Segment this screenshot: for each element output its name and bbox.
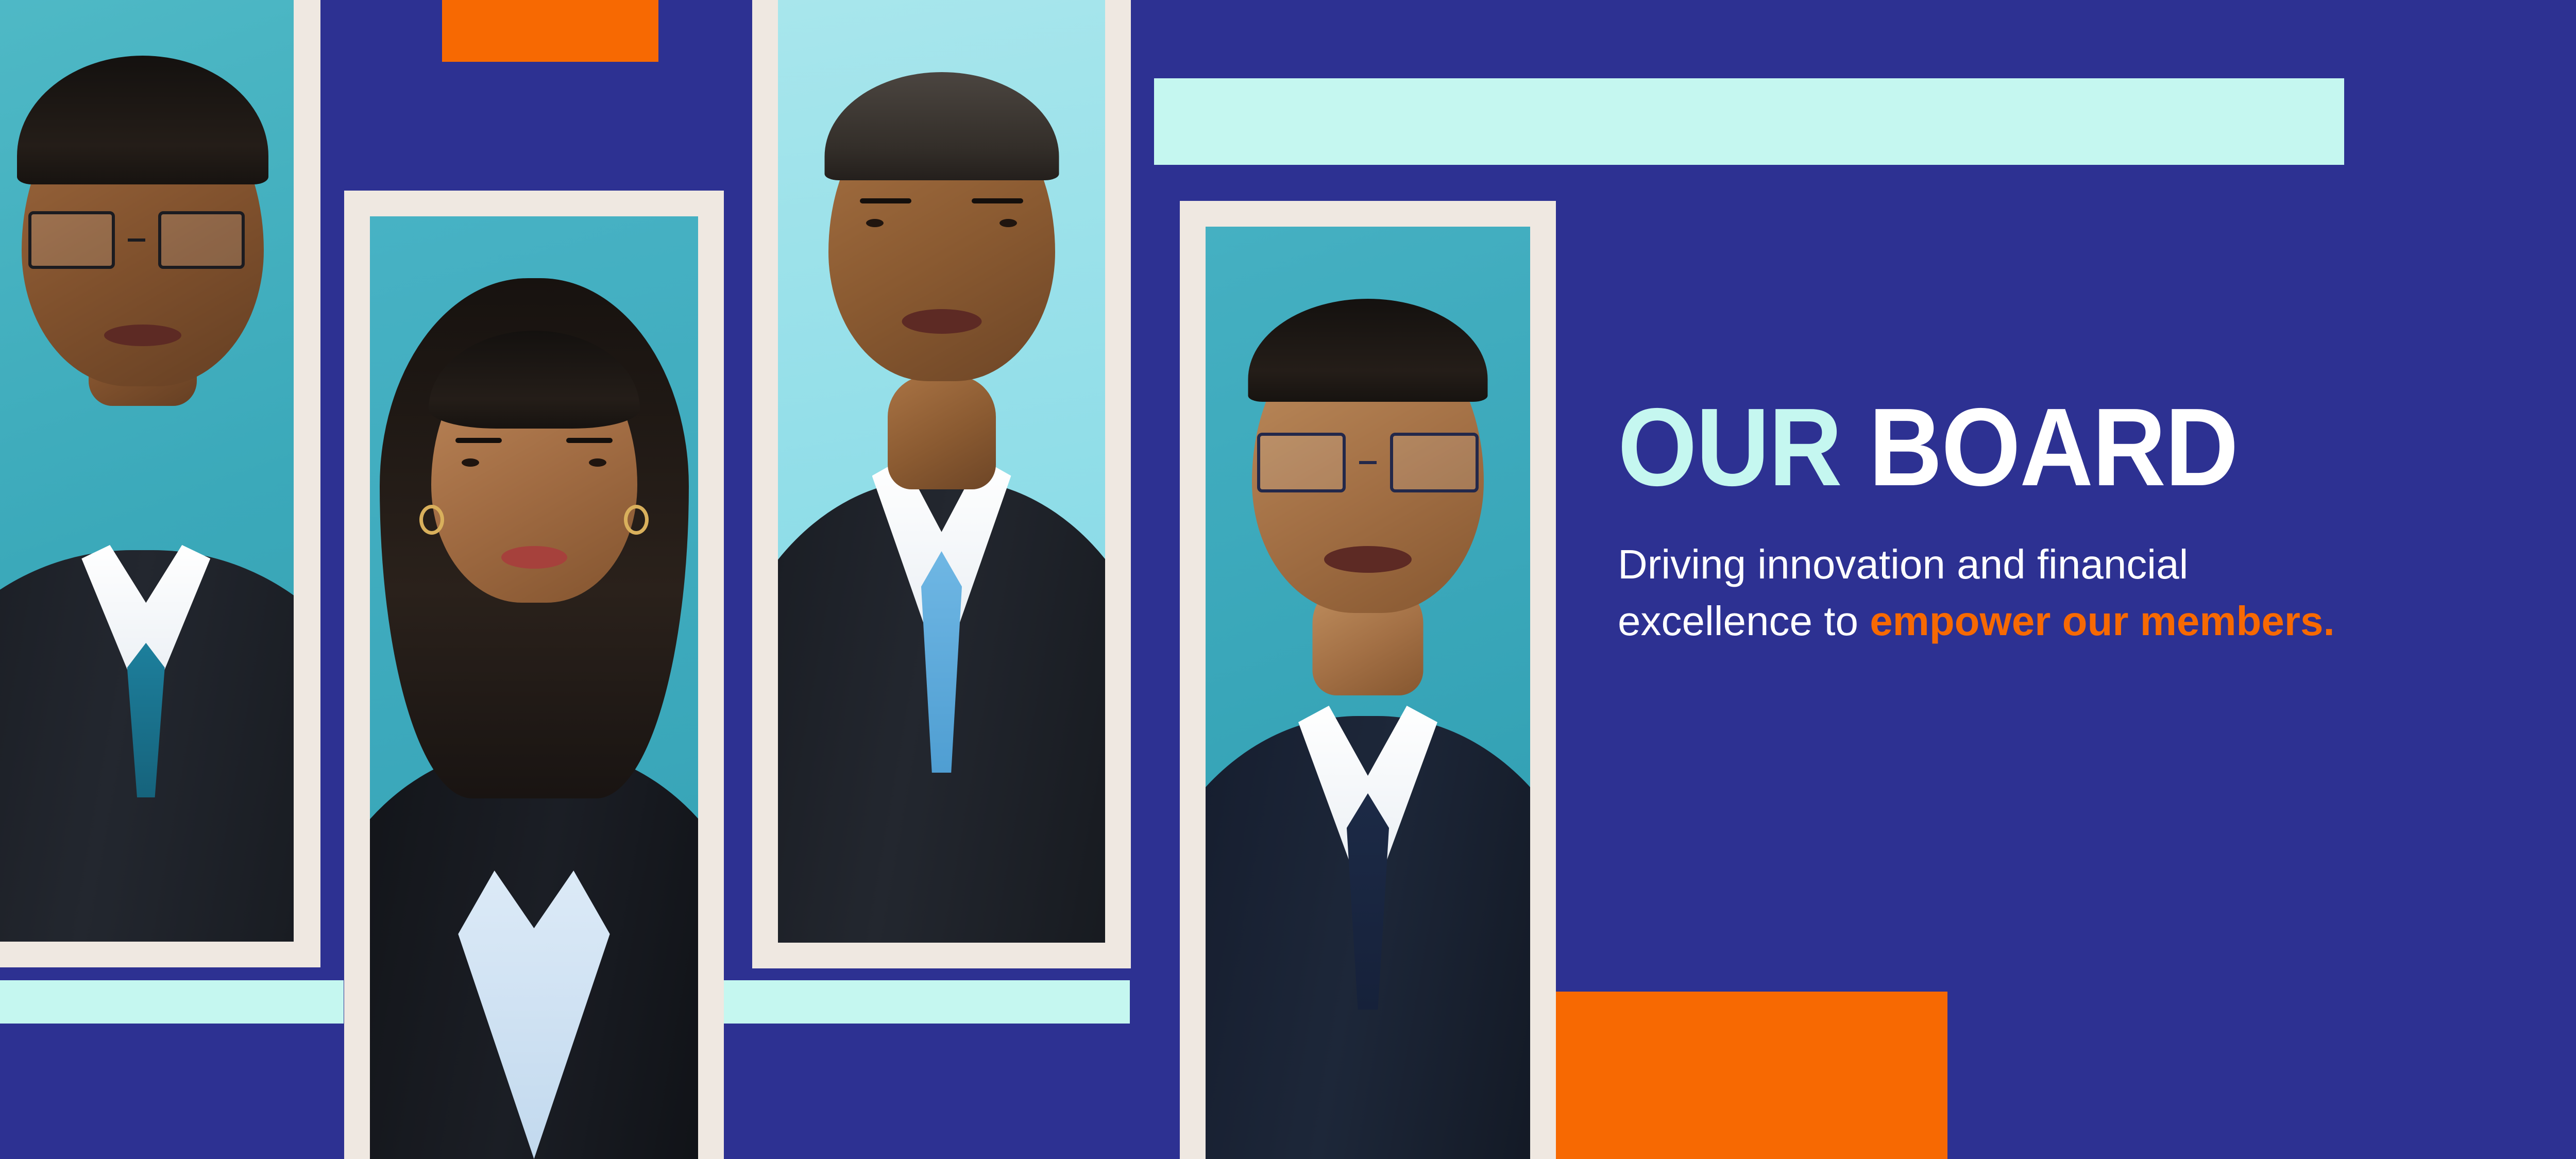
- earring-left: [419, 505, 444, 535]
- portrait-1-frame: [0, 0, 320, 967]
- title-word-board: BOARD: [1869, 385, 2238, 509]
- subtitle-line-1: Driving innovation and financial: [1618, 541, 2188, 587]
- mint-bar-bottom-left: [0, 980, 344, 1024]
- portrait-3-frame: [752, 0, 1131, 968]
- glasses-lens-left: [28, 211, 115, 269]
- page-title: OUR BOARD: [1618, 391, 2576, 502]
- our-board-banner: OUR BOARD Driving innovation and financi…: [0, 0, 2576, 1159]
- mint-bar-bottom-mid: [724, 980, 1130, 1024]
- mint-bar-top: [1154, 78, 2344, 165]
- glasses-lens-right: [158, 211, 245, 269]
- portrait-2-frame: [344, 191, 724, 1159]
- portrait-3-figure: [778, 0, 1105, 943]
- title-word-our: OUR: [1618, 385, 1841, 509]
- portrait-1-figure: [0, 0, 294, 942]
- subtitle-line-2-accent: empower our members.: [1870, 598, 2335, 644]
- portrait-4-figure: [1206, 227, 1530, 1159]
- portrait-2-photo: [370, 216, 698, 1159]
- glasses-bridge: [128, 238, 145, 242]
- glasses-lens-right: [1390, 433, 1479, 492]
- banner-subtitle: Driving innovation and financial excelle…: [1618, 536, 2576, 650]
- portrait-2-figure: [370, 216, 698, 1159]
- portrait-3-photo: [778, 0, 1105, 943]
- portrait-1-photo: [0, 0, 294, 942]
- portrait-4-photo: [1206, 227, 1530, 1159]
- portrait-4-frame: [1180, 201, 1556, 1159]
- banner-text-block: OUR BOARD Driving innovation and financi…: [1618, 391, 2576, 650]
- subtitle-line-2-plain: excellence to: [1618, 598, 1870, 644]
- orange-block-top-left: [442, 0, 658, 62]
- glasses-bridge: [1359, 461, 1377, 464]
- glasses-lens-left: [1257, 433, 1346, 492]
- orange-block-bottom: [1494, 992, 1947, 1159]
